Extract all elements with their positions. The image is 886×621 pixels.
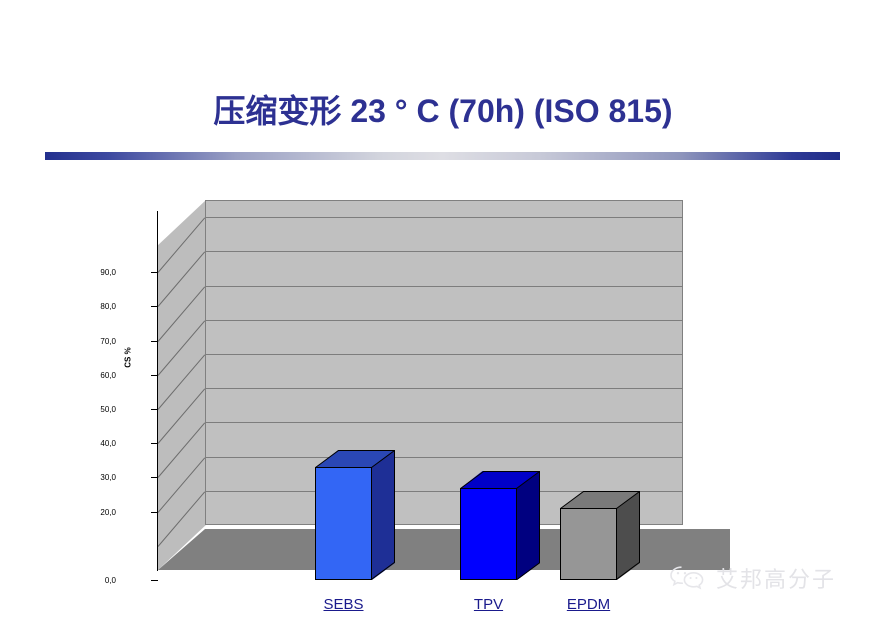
- wechat-icon: [668, 564, 708, 592]
- bar-front-face: [460, 488, 517, 580]
- y-axis-tick: [151, 443, 158, 444]
- y-axis-tick: [151, 580, 158, 581]
- y-axis-tick: [151, 375, 158, 376]
- bar-front-face: [315, 467, 372, 580]
- category-label-sebs[interactable]: SEBS: [295, 596, 392, 613]
- gridline: [205, 354, 683, 355]
- bar-side-face: [372, 450, 395, 580]
- y-axis-label: 80,0: [100, 302, 116, 311]
- y-axis-tick: [151, 477, 158, 478]
- gridline: [205, 422, 683, 423]
- y-axis-line: [157, 211, 158, 571]
- gridline: [205, 251, 683, 252]
- y-axis-label: 70,0: [100, 337, 116, 346]
- bar-epdm[interactable]: [560, 491, 640, 580]
- y-axis-label: 30,0: [100, 473, 116, 482]
- watermark: 艾邦高分子: [668, 562, 836, 594]
- y-axis-tick: [151, 272, 158, 273]
- watermark-text: 艾邦高分子: [716, 562, 836, 594]
- page-title: 压缩变形 23 ° C (70h) (ISO 815): [0, 95, 886, 127]
- title-area: 压缩变形 23 ° C (70h) (ISO 815): [0, 0, 886, 160]
- gridline: [205, 286, 683, 287]
- gridline: [205, 217, 683, 218]
- bar-tpv[interactable]: [460, 471, 540, 580]
- gridline: [205, 388, 683, 389]
- gridline: [205, 457, 683, 458]
- y-axis-tick: [151, 306, 158, 307]
- chart-back-wall: [205, 200, 683, 525]
- bar-sebs[interactable]: [315, 450, 395, 580]
- y-axis-title: CS %: [124, 347, 133, 367]
- gridline: [205, 320, 683, 321]
- y-axis-tick: [151, 512, 158, 513]
- y-axis-label: 40,0: [100, 439, 116, 448]
- bar-front-face: [560, 508, 617, 580]
- category-label-epdm[interactable]: EPDM: [540, 596, 637, 613]
- chart-left-wall: [158, 200, 206, 570]
- y-axis-label: 50,0: [100, 405, 116, 414]
- y-axis-label: 20,0: [100, 508, 116, 517]
- y-axis-label: 0,0: [105, 576, 116, 585]
- category-label-tpv[interactable]: TPV: [440, 596, 537, 613]
- y-axis-label: 90,0: [100, 268, 116, 277]
- y-axis-tick: [151, 341, 158, 342]
- bar-side-face: [517, 471, 540, 580]
- y-axis-label: 60,0: [100, 371, 116, 380]
- title-divider: [45, 152, 840, 160]
- bar-chart: 0,020,030,040,050,060,070,080,090,0 CS %…: [120, 185, 720, 565]
- y-axis-tick: [151, 409, 158, 410]
